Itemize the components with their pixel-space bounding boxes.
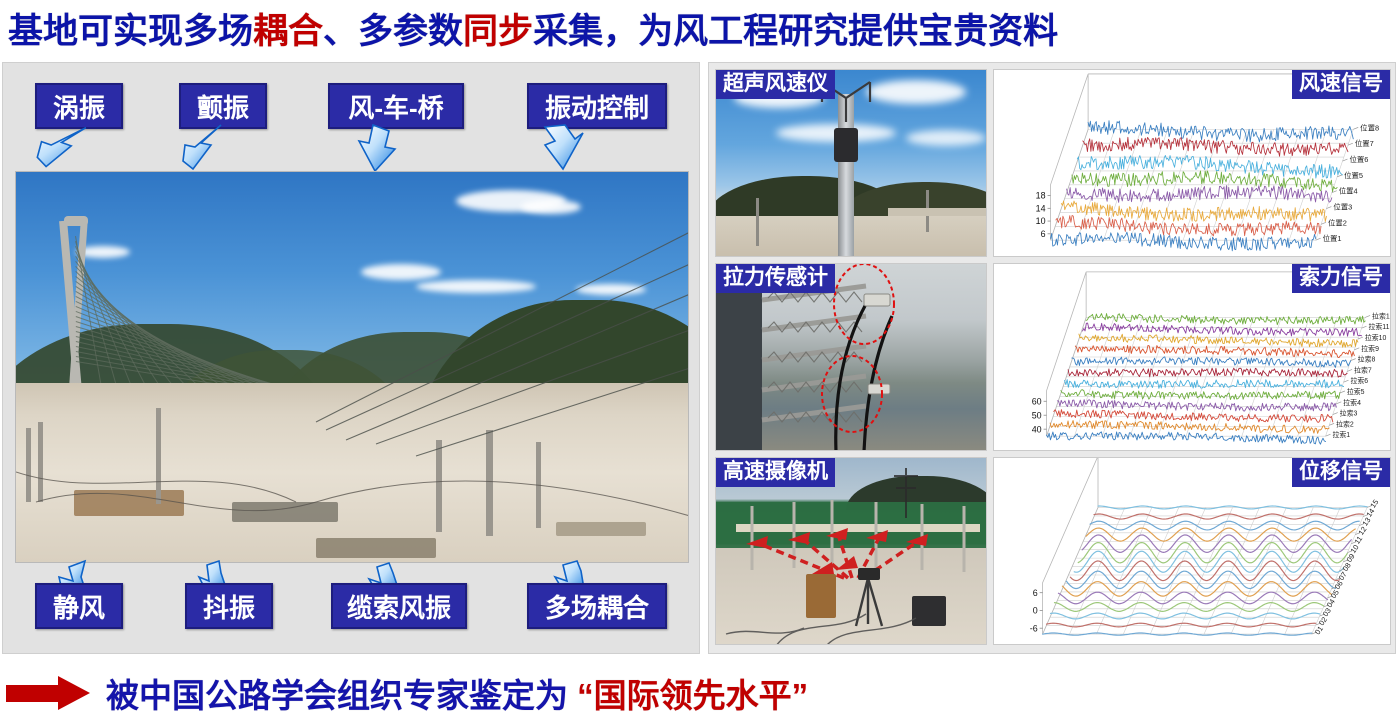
series-label: 拉索7	[1354, 365, 1372, 374]
series-label: 位置7	[1355, 138, 1374, 148]
series-label: 位置6	[1349, 154, 1368, 164]
displacement-signal-badge: 位移信号	[1292, 458, 1390, 487]
series-label: 位置3	[1333, 202, 1352, 212]
high-speed-camera-photo: 高速摄像机	[715, 457, 987, 645]
y-tick-label: 50	[1032, 410, 1042, 420]
bridge-site-photo	[15, 171, 689, 563]
camera-body	[858, 568, 880, 580]
high-speed-camera-photo-badge: 高速摄像机	[716, 458, 835, 487]
anemometer-body	[834, 128, 858, 162]
y-tick-label: 6	[1041, 229, 1046, 239]
series-label: 拉索8	[1358, 355, 1376, 364]
wooden-post	[806, 574, 836, 618]
right-arrow-icon	[6, 676, 92, 710]
sensor-row-1: 超声风速仪	[715, 69, 1391, 257]
left-panel: 涡振颤振风-车-桥振动控制	[2, 62, 700, 654]
wind-speed-signal-badge: 风速信号	[1292, 70, 1390, 99]
title-seg-1: 耦合	[253, 12, 323, 51]
anemometer-photo-badge: 超声风速仪	[716, 70, 835, 99]
sensor-row-2: 拉力传感计	[715, 263, 1391, 451]
title-seg-0: 基地可实现多场	[8, 12, 253, 51]
bottom-chip-1[interactable]: 抖振	[185, 583, 273, 629]
series-label: 拉索9	[1361, 344, 1379, 353]
y-tick-label: 18	[1036, 191, 1046, 201]
series-label: 拉索6	[1350, 376, 1368, 385]
title-seg-3: 同步	[463, 12, 533, 51]
series-label: 拉索3	[1340, 409, 1358, 418]
series-label: 位置2	[1328, 217, 1347, 227]
equipment-box	[912, 596, 946, 626]
sensor-row-3: 高速摄像机	[715, 457, 1391, 645]
y-tick-label: 10	[1036, 216, 1046, 226]
cable-force-signal-badge: 索力信号	[1292, 264, 1390, 293]
title-seg-4: 采集，为风工程研究提供宝贵资料	[533, 12, 1058, 51]
page-title: 基地可实现多场耦合、多参数同步采集，为风工程研究提供宝贵资料	[0, 2, 1399, 54]
anemometer-photo: 超声风速仪	[715, 69, 987, 257]
cable-force-signal-chart: 索力信号 拉索1拉索2拉索3拉索4拉索5拉索6拉索7拉索8拉索9拉索10拉索11…	[993, 263, 1391, 451]
y-tick-label: 40	[1032, 424, 1042, 434]
bottom-chip-3[interactable]: 多场耦合	[527, 583, 667, 629]
y-tick-label: 60	[1032, 396, 1042, 406]
page-title-text: 基地可实现多场耦合、多参数同步采集，为风工程研究提供宝贵资料	[8, 3, 1058, 54]
arrow-up-group	[3, 123, 701, 175]
cloud	[906, 130, 986, 146]
series-label: 位置5	[1344, 170, 1363, 180]
y-tick-label: 6	[1033, 588, 1038, 598]
load-cell-photo-badge: 拉力传感计	[716, 264, 835, 293]
footer-caption: 被中国公路学会组织专家鉴定为 “国际领先水平”	[0, 660, 1399, 726]
footer-caption-text: 被中国公路学会组织专家鉴定为 “国际领先水平”	[106, 669, 808, 717]
bottom-chip-0[interactable]: 静风	[35, 583, 123, 629]
y-tick-label: 14	[1036, 203, 1046, 213]
series-label: 拉索2	[1336, 419, 1354, 428]
title-seg-2: 、多参数	[323, 12, 463, 51]
series-label: 拉索10	[1365, 333, 1387, 342]
series-label: 拉索4	[1343, 398, 1361, 407]
overhead-wires	[16, 172, 689, 563]
series-label: 位置1	[1323, 233, 1342, 243]
load-cell-photo: 拉力传感计	[715, 263, 987, 451]
y-tick-label: -6	[1030, 623, 1038, 633]
series-label: 拉索11	[1368, 322, 1389, 331]
bottom-chip-2[interactable]: 缆索风振	[331, 583, 467, 629]
pole	[756, 198, 759, 246]
right-panel: 超声风速仪	[708, 62, 1396, 654]
y-tick-label: 0	[1033, 606, 1038, 616]
series-label: 拉索1	[1332, 430, 1350, 439]
series-label: 拉索12	[1372, 311, 1390, 320]
distant-bridge	[888, 208, 987, 216]
slide-root: 基地可实现多场耦合、多参数同步采集，为风工程研究提供宝贵资料 涡振颤振风-车-桥…	[0, 0, 1399, 728]
footer-seg-1: “国际领先水平”	[577, 677, 808, 714]
series-label: 位置8	[1360, 122, 1379, 132]
series-label: 位置4	[1339, 186, 1358, 196]
displacement-signal-chart: 位移信号 010203040506070809101112131415-606	[993, 457, 1391, 645]
wind-speed-signal-chart: 风速信号 位置1位置2位置3位置4位置5位置6位置7位置86101418	[993, 69, 1391, 257]
footer-seg-0: 被中国公路学会组织专家鉴定为	[106, 677, 577, 714]
series-label: 拉索5	[1347, 387, 1365, 396]
